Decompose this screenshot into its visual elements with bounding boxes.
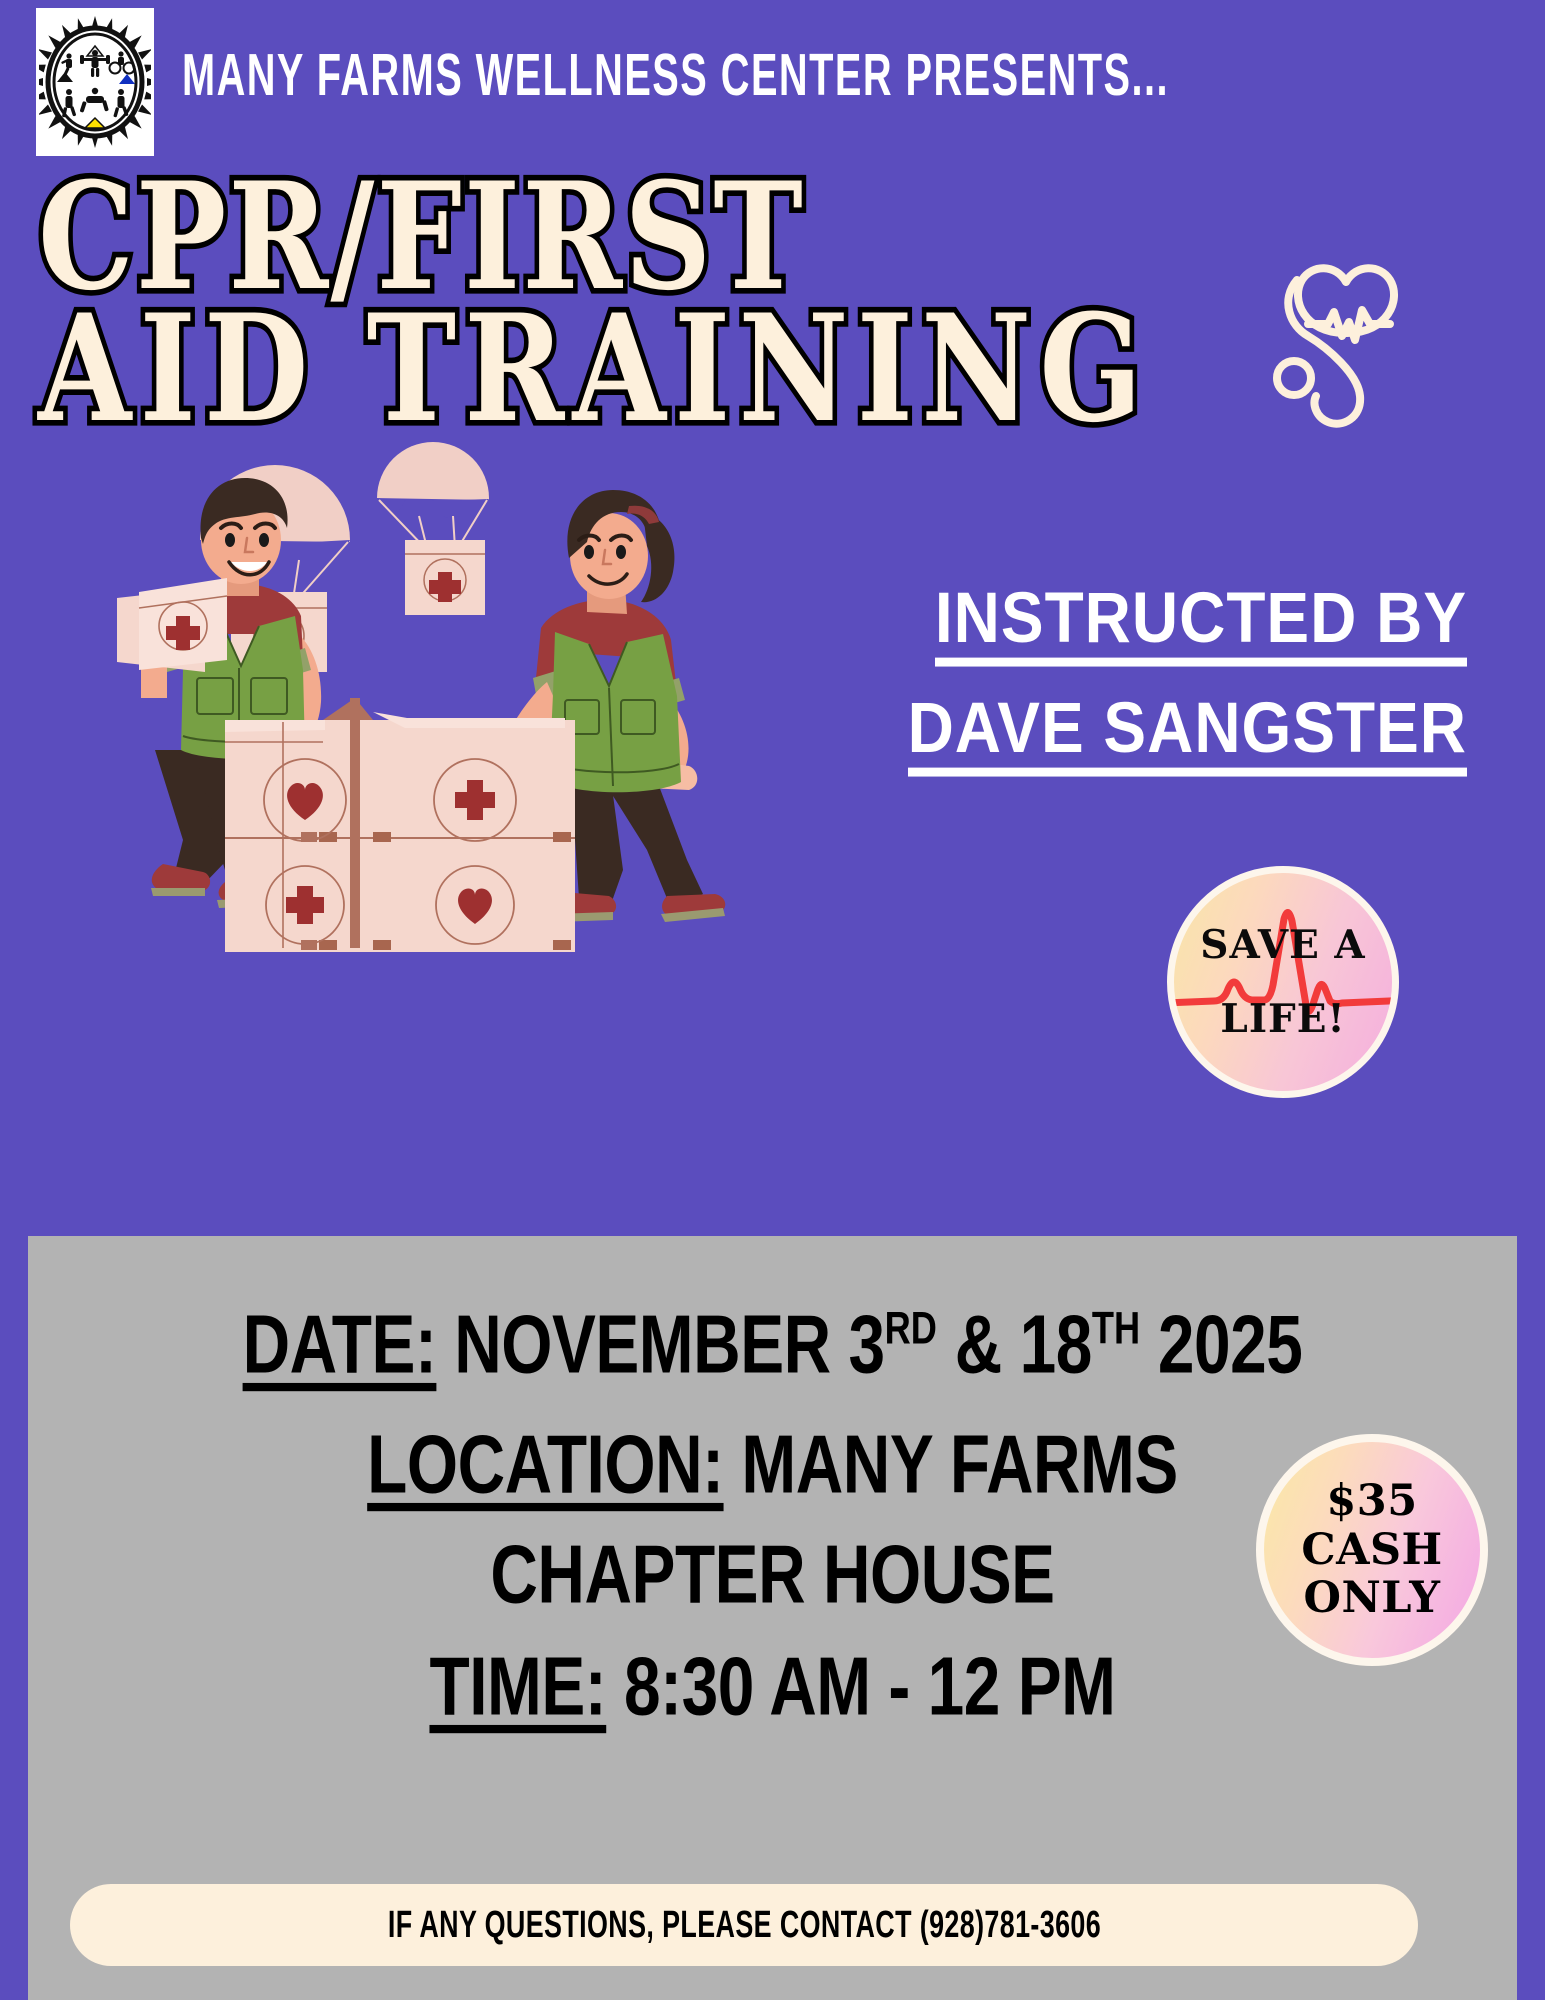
price-cash-only-badge: $35 CASH ONLY bbox=[1256, 1434, 1488, 1666]
title-line-2: AID TRAINING bbox=[38, 300, 1078, 437]
date-day-2-suffix: TH bbox=[1092, 1303, 1140, 1354]
save-badge-line-1: SAVE A bbox=[1200, 908, 1365, 982]
date-day-1-suffix: RD bbox=[885, 1303, 937, 1354]
poster-root: MANY FARMS WELLNESS CENTER PRESENTS... C… bbox=[0, 0, 1545, 2000]
instructor-block: INSTRUCTED BY DAVE SANGSTER bbox=[827, 586, 1467, 806]
organization-title: MANY FARMS WELLNESS CENTER PRESENTS... bbox=[182, 41, 1169, 109]
parachute-small bbox=[377, 442, 489, 615]
cash-badge-line-2: CASH bbox=[1301, 1526, 1442, 1575]
cash-badge-price: $35 bbox=[1326, 1477, 1417, 1526]
time-value: 8:30 AM - 12 PM bbox=[624, 1640, 1115, 1732]
poster-header: MANY FARMS WELLNESS CENTER PRESENTS... bbox=[0, 0, 1545, 160]
time-row: TIME: 8:30 AM - 12 PM bbox=[73, 1639, 1473, 1733]
location-label: LOCATION: bbox=[367, 1418, 723, 1510]
location-row-1: LOCATION: MANY FARMS bbox=[73, 1417, 1473, 1511]
wellness-center-logo bbox=[36, 8, 154, 156]
instructor-name: DAVE SANGSTER bbox=[908, 691, 1467, 776]
contact-text: IF ANY QUESTIONS, PLEASE CONTACT (928)78… bbox=[387, 1903, 1100, 1946]
cash-badge-line-3: ONLY bbox=[1304, 1574, 1441, 1623]
held-first-aid-box bbox=[117, 578, 227, 672]
date-month: NOVEMBER bbox=[454, 1298, 830, 1390]
save-badge-line-2: LIFE! bbox=[1220, 982, 1345, 1056]
instructed-by-label: INSTRUCTED BY bbox=[935, 581, 1467, 666]
date-day-2: 18 bbox=[1020, 1298, 1092, 1390]
date-joiner: & bbox=[955, 1298, 1002, 1390]
stacked-supply-boxes bbox=[225, 698, 575, 952]
save-a-life-badge: SAVE A LIFE! bbox=[1167, 866, 1399, 1098]
first-aid-volunteers-illustration bbox=[55, 420, 785, 960]
stethoscope-heart-icon bbox=[1250, 238, 1430, 438]
date-year: 2025 bbox=[1158, 1298, 1303, 1390]
date-row: DATE: NOVEMBER 3RD & 18TH 2025 bbox=[73, 1297, 1473, 1391]
date-day-1: 3 bbox=[848, 1298, 884, 1390]
location-line-2: CHAPTER HOUSE bbox=[490, 1528, 1054, 1620]
time-label: TIME: bbox=[429, 1640, 606, 1732]
date-label: DATE: bbox=[243, 1298, 437, 1390]
poster-title: CPR/FIRST AID TRAINING bbox=[38, 168, 1058, 431]
contact-footer-pill: IF ANY QUESTIONS, PLEASE CONTACT (928)78… bbox=[70, 1884, 1418, 1966]
location-line-1: MANY FARMS bbox=[741, 1418, 1177, 1510]
logo-emblem-icon bbox=[39, 12, 151, 152]
